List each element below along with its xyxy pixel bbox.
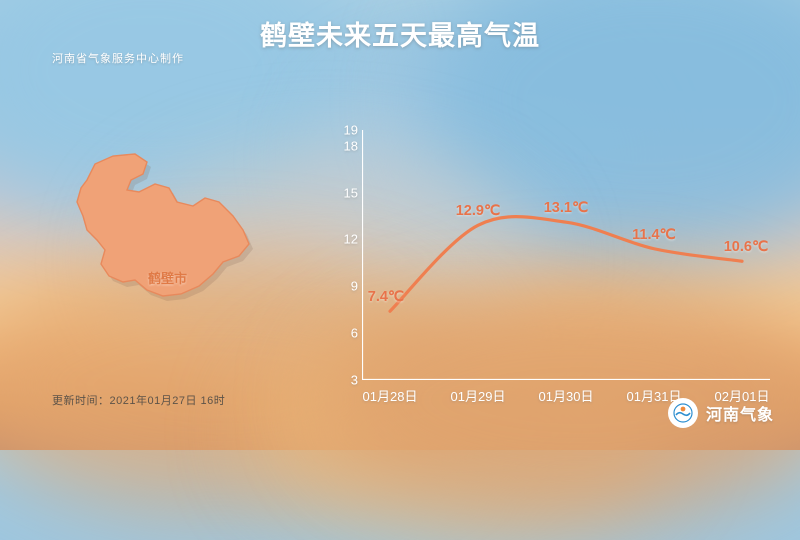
temperature-line-series [390, 217, 742, 312]
brand-logo: 河南气象 [668, 398, 774, 428]
x-axis-tick-label: 01月28日 [363, 386, 418, 405]
weather-logo-icon [668, 398, 698, 428]
credit-text: 河南省气象服务中心制作 [52, 50, 184, 66]
chart-svg [362, 130, 770, 380]
y-axis-tick-label: 9 [351, 279, 358, 294]
update-time-text: 更新时间：2021年01月27日 16时 [52, 392, 225, 408]
data-point-label: 11.4℃ [632, 227, 676, 243]
weather-logo-glyph-icon [672, 402, 694, 424]
x-axis-tick-label: 01月29日 [451, 386, 506, 405]
temperature-line-chart: 19181512963 01月28日01月29日01月30日01月31日02月0… [330, 130, 770, 400]
data-point-label: 10.6℃ [724, 239, 769, 255]
brand-logo-text: 河南气象 [706, 401, 774, 425]
y-axis-tick-label: 12 [344, 232, 358, 247]
data-point-label: 7.4℃ [368, 289, 404, 305]
x-axis-tick-label: 01月30日 [539, 386, 594, 405]
plot-area [362, 130, 770, 380]
y-axis-tick-label: 15 [344, 185, 358, 200]
map-city-label: 鹤壁市 [148, 268, 187, 287]
y-axis-tick-label: 19 [344, 123, 358, 138]
y-axis-tick-label: 18 [344, 138, 358, 153]
y-axis-tick-labels: 19181512963 [330, 130, 358, 380]
map-shape-icon [40, 140, 290, 320]
y-axis-tick-label: 3 [351, 373, 358, 388]
data-point-label: 13.1℃ [544, 200, 589, 216]
hebi-city-map: 鹤壁市 [40, 140, 290, 320]
y-axis-tick-label: 6 [351, 326, 358, 341]
data-point-label: 12.9℃ [456, 203, 501, 219]
page-title: 鹤壁未来五天最高气温 [0, 14, 800, 53]
